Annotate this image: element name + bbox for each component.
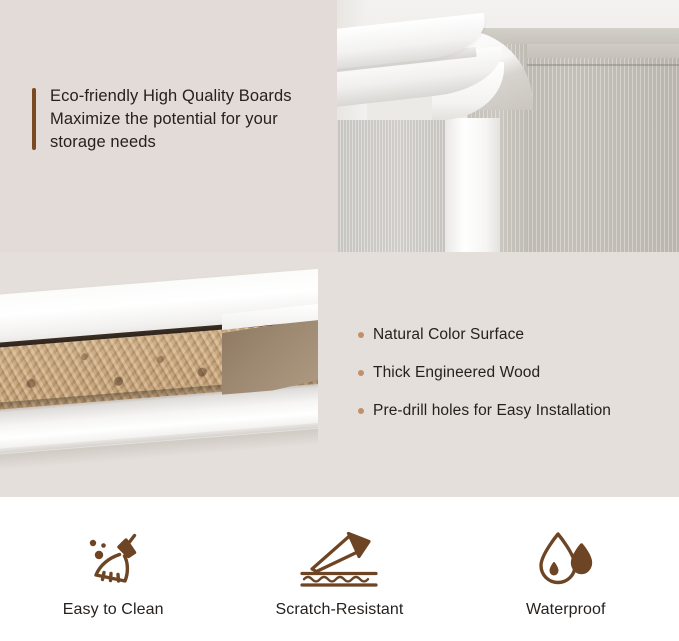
bullet-label: Thick Engineered Wood <box>373 363 540 382</box>
door-groove-line <box>524 64 679 66</box>
knife-on-surface-icon <box>291 525 387 591</box>
bullet-label: Pre-drill holes for Easy Installation <box>373 401 611 420</box>
furniture-corner-photo <box>337 0 679 252</box>
feature-label: Scratch-Resistant <box>276 601 404 619</box>
bullet-dot-icon <box>358 370 364 376</box>
cabinet-interior-panel <box>337 120 449 252</box>
water-droplet-icon <box>534 525 598 591</box>
feature-label: Easy to Clean <box>63 601 164 619</box>
cabinet-white-stile <box>445 118 500 252</box>
feature-waterproof: Waterproof <box>453 497 679 641</box>
product-infographic: Eco-friendly High Quality Boards Maximiz… <box>0 0 679 641</box>
list-item: Natural Color Surface <box>358 325 658 344</box>
list-item: Pre-drill holes for Easy Installation <box>358 401 658 420</box>
cabinet-top-face <box>470 28 679 44</box>
accent-bar <box>32 88 36 150</box>
cabinet-door-panel <box>524 36 679 252</box>
top-section: Eco-friendly High Quality Boards Maximiz… <box>0 0 679 252</box>
bullet-dot-icon <box>358 332 364 338</box>
feature-icon-row: Easy to Clean Scratch-Resistant <box>0 497 679 641</box>
list-item: Thick Engineered Wood <box>358 363 658 382</box>
feature-easy-to-clean: Easy to Clean <box>0 497 226 641</box>
broom-icon <box>78 525 148 591</box>
feature-scratch-resistant: Scratch-Resistant <box>226 497 452 641</box>
feature-label: Waterproof <box>526 601 606 619</box>
headline-block: Eco-friendly High Quality Boards Maximiz… <box>32 85 292 154</box>
feature-bullet-list: Natural Color Surface Thick Engineered W… <box>358 325 658 439</box>
bullet-label: Natural Color Surface <box>373 325 524 344</box>
board-cross-section-photo <box>0 252 318 497</box>
bullet-dot-icon <box>358 408 364 414</box>
headline-text: Eco-friendly High Quality Boards Maximiz… <box>50 85 292 154</box>
